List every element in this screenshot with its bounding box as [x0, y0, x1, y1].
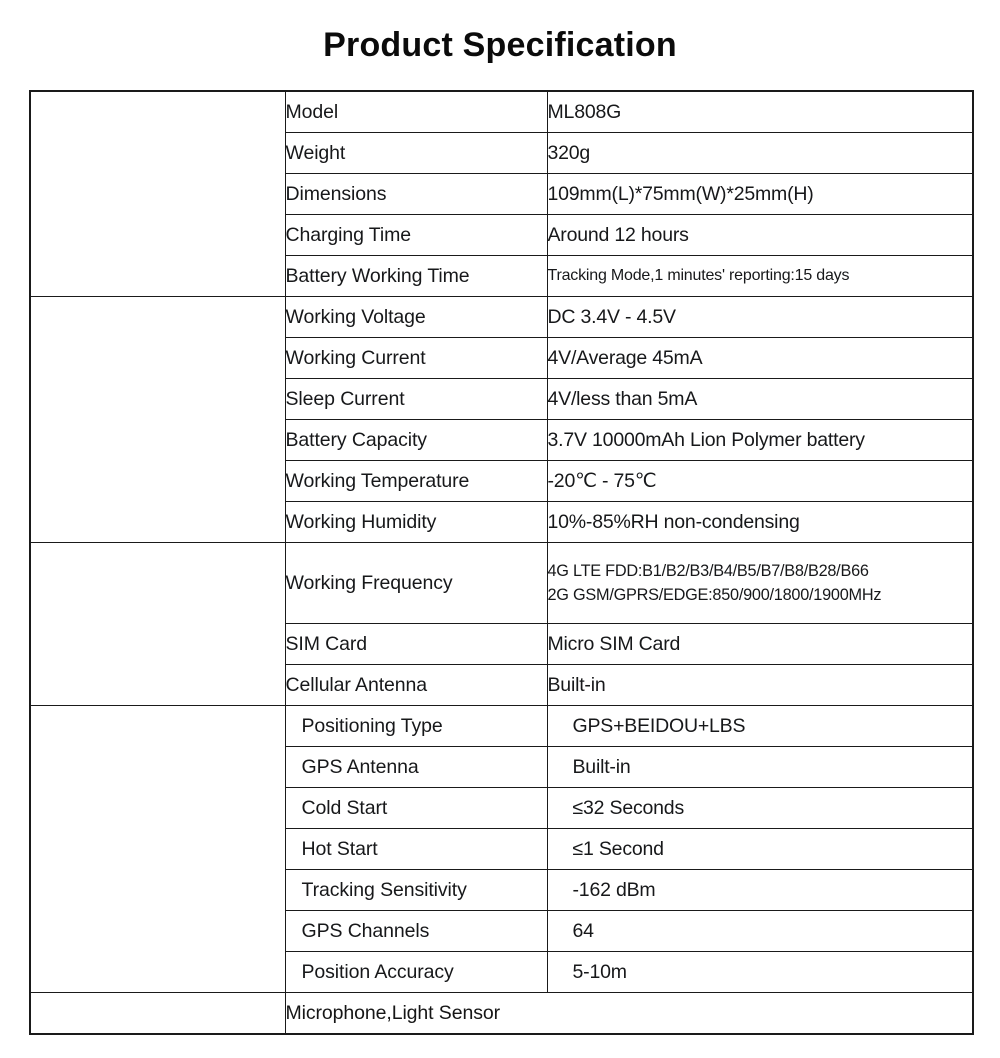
category-label-device-information: Device Information [30, 91, 285, 297]
table-row: Cellular Specifications Working Frequenc… [30, 543, 973, 624]
specification-table: Device Information Model ML808G Weight 3… [29, 90, 974, 1035]
table-row: Device Information Model ML808G [30, 91, 973, 133]
spec-key: GPS Channels [285, 911, 547, 952]
page-title: Product Specification [0, 26, 1000, 65]
spec-value: ML808G [547, 91, 973, 133]
spec-key: Working Current [285, 338, 547, 379]
spec-value: Around 12 hours [547, 215, 973, 256]
spec-value: 4V/Average 45mA [547, 338, 973, 379]
spec-key: GPS Antenna [285, 747, 547, 788]
spec-key: Cellular Antenna [285, 665, 547, 706]
spec-value: 64 [547, 911, 973, 952]
spec-value: 4G LTE FDD:B1/B2/B3/B4/B5/B7/B8/B28/B66 … [547, 543, 973, 624]
table-row: GNSS Specifications Positioning Type GPS… [30, 706, 973, 747]
spec-value: -162 dBm [547, 870, 973, 911]
spec-key: Position Accuracy [285, 952, 547, 993]
spec-value: Built-in [547, 747, 973, 788]
spec-value: 109mm(L)*75mm(W)*25mm(H) [547, 174, 973, 215]
category-label-gnss-specifications: GNSS Specifications [30, 706, 285, 993]
table-row: External Interface Microphone,Light Sens… [30, 993, 973, 1035]
spec-key: Working Temperature [285, 461, 547, 502]
spec-key: Sleep Current [285, 379, 547, 420]
spec-key: Dimensions [285, 174, 547, 215]
spec-key: Battery Capacity [285, 420, 547, 461]
spec-key: Cold Start [285, 788, 547, 829]
spec-value: 3.7V 10000mAh Lion Polymer battery [547, 420, 973, 461]
spec-value: ≤1 Second [547, 829, 973, 870]
spec-value: 5-10m [547, 952, 973, 993]
spec-key: Positioning Type [285, 706, 547, 747]
spec-value: ≤32 Seconds [547, 788, 973, 829]
spec-value-external-interface: Microphone,Light Sensor [285, 993, 973, 1035]
spec-key: Model [285, 91, 547, 133]
spec-key: Weight [285, 133, 547, 174]
spec-value-line1: 4G LTE FDD:B1/B2/B3/B4/B5/B7/B8/B28/B66 [548, 560, 973, 584]
spec-value: 10%-85%RH non-condensing [547, 502, 973, 543]
spec-value: -20℃ - 75℃ [547, 461, 973, 502]
category-label-working-parameters: Working Parameters [30, 297, 285, 543]
spec-key: Working Humidity [285, 502, 547, 543]
spec-value: Micro SIM Card [547, 624, 973, 665]
category-label-line1: Cellular [45, 600, 285, 624]
spec-value: 320g [547, 133, 973, 174]
category-label-external-interface: External Interface [30, 993, 285, 1035]
spec-value: Built-in [547, 665, 973, 706]
spec-key: Working Frequency [285, 543, 547, 624]
spec-value: Tracking Mode,1 minutes' reporting:15 da… [547, 256, 973, 297]
table-row: Working Parameters Working Voltage DC 3.… [30, 297, 973, 338]
spec-value: GPS+BEIDOU+LBS [547, 706, 973, 747]
spec-key: Charging Time [285, 215, 547, 256]
spec-key: Tracking Sensitivity [285, 870, 547, 911]
category-label-cellular-specifications: Cellular Specifications [30, 543, 285, 706]
category-label-line2: Specifications [45, 624, 285, 648]
spec-value-line2: 2G GSM/GPRS/EDGE:850/900/1800/1900MHz [548, 584, 973, 608]
spec-key: Working Voltage [285, 297, 547, 338]
product-specification-page: Product Specification Device Information… [0, 0, 1000, 1058]
spec-key: SIM Card [285, 624, 547, 665]
spec-key: Hot Start [285, 829, 547, 870]
spec-key: Battery Working Time [285, 256, 547, 297]
spec-value: 4V/less than 5mA [547, 379, 973, 420]
spec-value: DC 3.4V - 4.5V [547, 297, 973, 338]
